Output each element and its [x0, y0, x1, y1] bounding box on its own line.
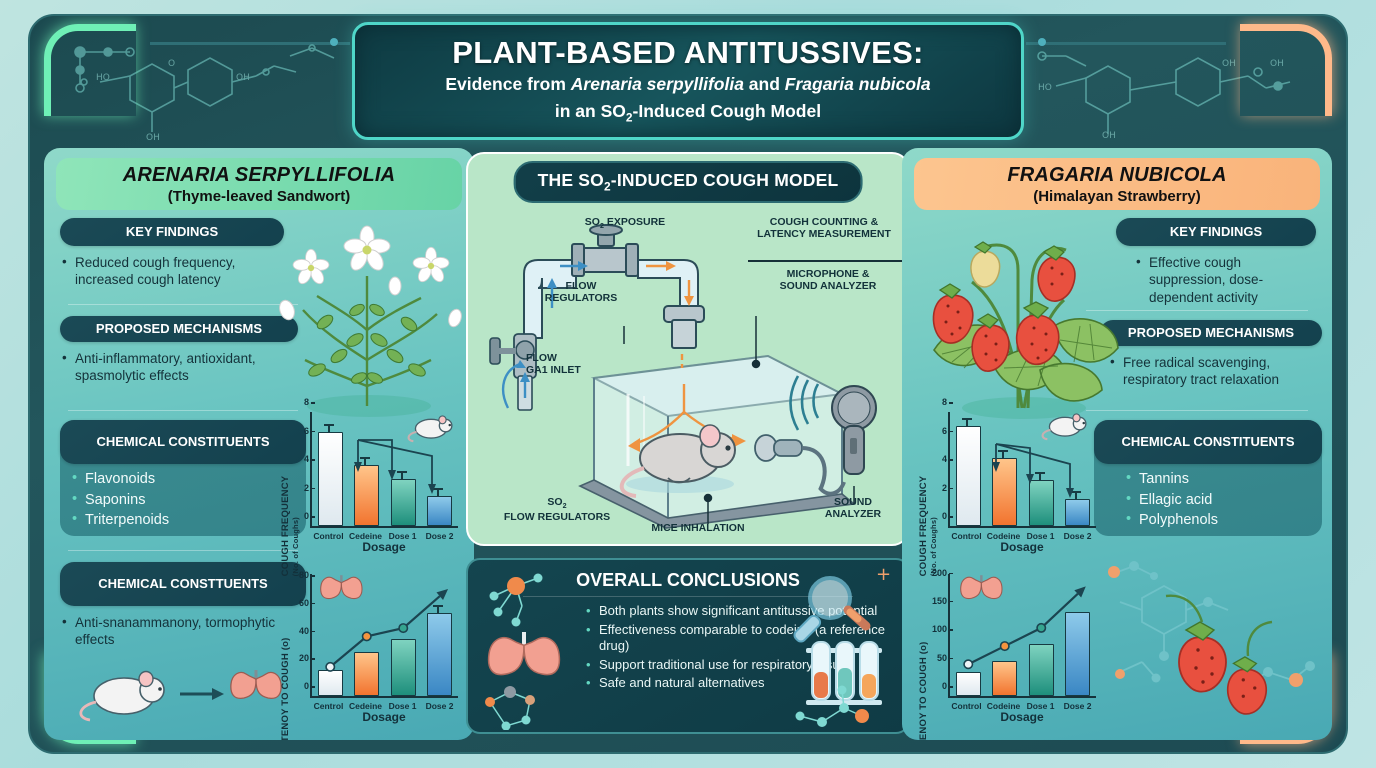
- arenaria-latin-name: ARENARIA SERPYLLIFOLIA: [123, 164, 396, 187]
- fragaria-molecule-illustration: [1096, 552, 1326, 734]
- page-title: PLANT-BASED ANTITUSSIVES:: [452, 37, 923, 70]
- overall-conclusions-box: OVERALL CONCLUSIONS Both plants show sig…: [466, 558, 910, 734]
- list-item: Anti-inflammatory, antioxidant, spasmoly…: [62, 350, 257, 385]
- data-point: [399, 624, 407, 632]
- y-tick-label: 0: [942, 511, 947, 521]
- strawberry-icon: [1179, 622, 1226, 692]
- panel-fragaria: FRAGARIA NUBICOLA (Himalayan Strawberry)…: [902, 148, 1332, 740]
- arenaria-common-name: (Thyme-leaved Sandwort): [168, 188, 351, 205]
- y-tick-label: 60: [299, 598, 309, 608]
- fragaria-key-findings-list: Effective cough suppression, dose-depend…: [1136, 254, 1316, 308]
- y-tick-label: 6: [942, 426, 947, 436]
- y-tick-label: 6: [304, 426, 309, 436]
- y-tick-label: 50: [937, 653, 947, 663]
- main-title-banner: PLANT-BASED ANTITUSSIVES: Evidence from …: [352, 22, 1024, 140]
- y-tick-label: 0: [304, 681, 309, 691]
- strawberry-icon: [1228, 657, 1267, 714]
- error-bar: [437, 488, 439, 497]
- list-item: Reduced cough frequency, increased cough…: [62, 254, 272, 289]
- data-point: [1037, 624, 1045, 632]
- chart-right-cough-xlabel: Dosage: [948, 540, 1096, 554]
- fragaria-key-findings-header: KEY FINDINGS: [1116, 218, 1316, 246]
- chart-left-cough-ylabel: COUGH FREQUENCY(No. of Coughs): [280, 476, 300, 577]
- magnifier-icon: +: [792, 568, 891, 644]
- fragaria-name-header: FRAGARIA NUBICOLA (Himalayan Strawberry): [914, 158, 1320, 210]
- arenaria-plant-illustration: [259, 210, 474, 420]
- fragaria-constituents-header: CHEMICAL CONSTITUENTS: [1094, 420, 1322, 464]
- chart-right-cough-ylabel: COUGH FREQUENCY(No. of Coughs): [918, 476, 938, 577]
- fragaria-plant-illustration: [912, 210, 1137, 422]
- y-tick-label: 8: [942, 397, 947, 407]
- y-tick-label: 4: [942, 454, 947, 464]
- list-item: Ellagic acid: [1126, 491, 1322, 510]
- bar: [391, 479, 416, 526]
- y-tick-label: 0: [942, 681, 947, 691]
- list-item: Effective cough suppression, dose-depend…: [1136, 254, 1316, 306]
- data-point: [363, 632, 371, 640]
- subtitle-line3-prefix: in an SO: [555, 101, 626, 121]
- fragaria-constituents-list: Tannins Ellagic acid Polyphenols: [1126, 470, 1322, 532]
- svg-text:OH: OH: [236, 73, 250, 83]
- error-bar: [966, 418, 968, 427]
- list-item: Saponins: [72, 491, 292, 510]
- svg-text:+: +: [876, 568, 891, 585]
- error-bar: [1002, 450, 1004, 459]
- svg-text:OH: OH: [146, 133, 160, 143]
- subtitle-line3-suffix: -Induced Cough Model: [633, 101, 822, 121]
- label-mice-inhalation: MICE INHALATION: [618, 522, 778, 534]
- bar: [992, 458, 1017, 526]
- list-item: Triterpenoids: [72, 511, 292, 530]
- chart-right-latency-xlabel: Dosage: [948, 710, 1096, 724]
- model-title-suffix: -INDUCED COUGH MODEL: [611, 170, 839, 190]
- arenaria-name-header: ARENARIA SERPYLLIFOLIA (Thyme-leaved San…: [56, 158, 462, 210]
- y-tick-label: 8: [304, 397, 309, 407]
- molecule-icon: [796, 686, 870, 728]
- label-so2flow-sub: 2: [563, 502, 567, 510]
- plant-name-1: Arenaria serpyllifolia: [571, 74, 744, 94]
- label-so2-suffix: EXPOSURE: [604, 216, 665, 228]
- lungs-icon: [960, 572, 1006, 608]
- label-so2-flow-regulators: SO2FLOW REGULATORS: [482, 496, 632, 523]
- label-flow-regulators-top: FLOW REGULATORS: [516, 280, 646, 305]
- svg-text:OH: OH: [1222, 59, 1236, 69]
- data-point: [1001, 642, 1009, 650]
- svg-text:HO: HO: [1038, 83, 1052, 93]
- chart-right-latency: LATENOY TO COUGH (o) 050100150200 Contro…: [918, 568, 1098, 724]
- arenaria-mechanisms-list: Anti-inflammatory, antioxidant, spasmoly…: [62, 350, 257, 387]
- list-item: Flavonoids: [72, 470, 292, 489]
- list-item: Anti-snanammanony, tormophytic effects: [62, 614, 277, 649]
- list-item: Polyphenols: [1126, 511, 1322, 530]
- subtitle-prefix: Evidence from: [445, 74, 570, 94]
- lungs-icon: [320, 572, 366, 608]
- data-point: [326, 663, 334, 671]
- chart-left-latency-ylabel: LATENOY TO COUGH (o): [280, 638, 291, 740]
- y-tick-label: 80: [299, 570, 309, 580]
- arrow-icon: [212, 688, 224, 700]
- y-tick-label: 4: [304, 454, 309, 464]
- y-tick-label: 150: [932, 596, 947, 606]
- divider-3: [68, 550, 298, 551]
- panel-arenaria: ARENARIA SERPYLLIFOLIA (Thyme-leaved San…: [44, 148, 474, 740]
- bar: [1065, 499, 1090, 526]
- label-so2-prefix: SO: [585, 216, 600, 228]
- arenaria-key-findings-header: KEY FINDINGS: [60, 218, 284, 246]
- panel-cough-model: THE SO2-INDUCED COUGH MODEL: [466, 152, 910, 546]
- page-subtitle-line3: in an SO2-Induced Cough Model: [555, 101, 821, 125]
- chart-left-latency: LATENOY TO COUGH (o) 020406080 CentrolCe…: [280, 568, 460, 724]
- lungs-icon: [231, 670, 281, 698]
- y-tick-label: 2: [942, 483, 947, 493]
- svg-text:O: O: [168, 59, 175, 69]
- error-bar: [401, 471, 403, 480]
- bar: [318, 432, 343, 526]
- lungs-icon: [489, 632, 560, 675]
- plant-name-2: Fragaria nubicola: [785, 74, 931, 94]
- conclusions-right-icons: +: [786, 568, 902, 730]
- data-point: [964, 660, 972, 668]
- fragaria-common-name: (Himalayan Strawberry): [1033, 188, 1201, 205]
- bar: [1029, 480, 1054, 526]
- svg-text:OH: OH: [1102, 131, 1116, 141]
- arenaria-secondary-header: CHEMICAL CONSTTUENTS: [60, 562, 306, 606]
- bar: [956, 426, 981, 526]
- molecule-icon: [485, 686, 535, 730]
- label-so2flow-prefix: SO: [547, 496, 562, 508]
- model-title-prefix: THE SO: [538, 170, 604, 190]
- corner-glow-top-right: [1240, 24, 1332, 116]
- chart-left-cough-xlabel: Dosage: [310, 540, 458, 554]
- bar: [354, 465, 379, 526]
- chart-left-cough-frequency: COUGH FREQUENCY(No. of Coughs) 02468 Con…: [280, 406, 460, 554]
- arenaria-constituents-header: CHEMICAL CONSTITUENTS: [60, 420, 306, 464]
- fragaria-mechanisms-list: Free radical scavenging, respiratory tra…: [1110, 354, 1322, 391]
- arenaria-constituents-list: Flavonoids Saponins Triterpenoids: [72, 470, 292, 532]
- label-microphone-sound-analyzer: MICROPHONE & SOUND ANALYZER: [750, 268, 906, 293]
- label-flow-gas-inlet: FLOW GA1 INLET: [526, 352, 626, 377]
- label-so2-exposure: SO2 EXPOSURE: [550, 216, 700, 231]
- error-bar: [328, 424, 330, 433]
- y-tick-label: 200: [932, 568, 947, 578]
- label-so2flow-suffix: FLOW REGULATORS: [504, 511, 610, 523]
- molecule-icon: [490, 574, 543, 627]
- error-bar: [1075, 491, 1077, 500]
- label-cough-counting: COUGH COUNTING & LATENCY MEASUREMENT: [740, 216, 908, 241]
- arenaria-key-findings-list: Reduced cough frequency, increased cough…: [62, 254, 272, 291]
- y-tick-label: 100: [932, 624, 947, 634]
- conclusions-left-icons: [476, 568, 586, 730]
- chart-left-cough-plot: 02468: [310, 412, 458, 528]
- cough-model-title: THE SO2-INDUCED COUGH MODEL: [514, 161, 863, 203]
- y-tick-label: 0: [304, 511, 309, 521]
- mouse-to-lungs-icon-group: [72, 660, 292, 726]
- subtitle-conjunction: and: [744, 74, 785, 94]
- error-bar: [364, 457, 366, 466]
- y-tick-label: 40: [299, 626, 309, 636]
- chart-right-latency-ylabel: LATENOY TO COUGH (o): [918, 642, 929, 740]
- chart-right-cough-plot: 02468: [948, 412, 1096, 528]
- corner-glow-top-left: [44, 24, 136, 116]
- list-item: Free radical scavenging, respiratory tra…: [1110, 354, 1322, 389]
- arenaria-secondary-list: Anti-snanammanony, tormophytic effects: [62, 614, 277, 651]
- fragaria-latin-name: FRAGARIA NUBICOLA: [1007, 164, 1226, 187]
- label-sound-analyzer: SOUND ANALYZER: [798, 496, 908, 521]
- y-tick-label: 20: [299, 653, 309, 663]
- error-bar: [1039, 472, 1041, 481]
- bar: [427, 496, 452, 526]
- chart-right-cough-frequency: COUGH FREQUENCY(No. of Coughs) 02468 Con…: [918, 406, 1098, 554]
- so2-subscript-title: 2: [626, 111, 633, 125]
- list-item: Tannins: [1126, 470, 1322, 489]
- y-tick-label: 2: [304, 483, 309, 493]
- page-subtitle: Evidence from Arenaria serpyllifolia and…: [445, 74, 930, 96]
- underline-cough-counting: [748, 260, 906, 262]
- chart-left-latency-xlabel: Dosage: [310, 710, 458, 724]
- test-tubes-icon: [806, 642, 882, 705]
- mouse-icon: [81, 672, 164, 721]
